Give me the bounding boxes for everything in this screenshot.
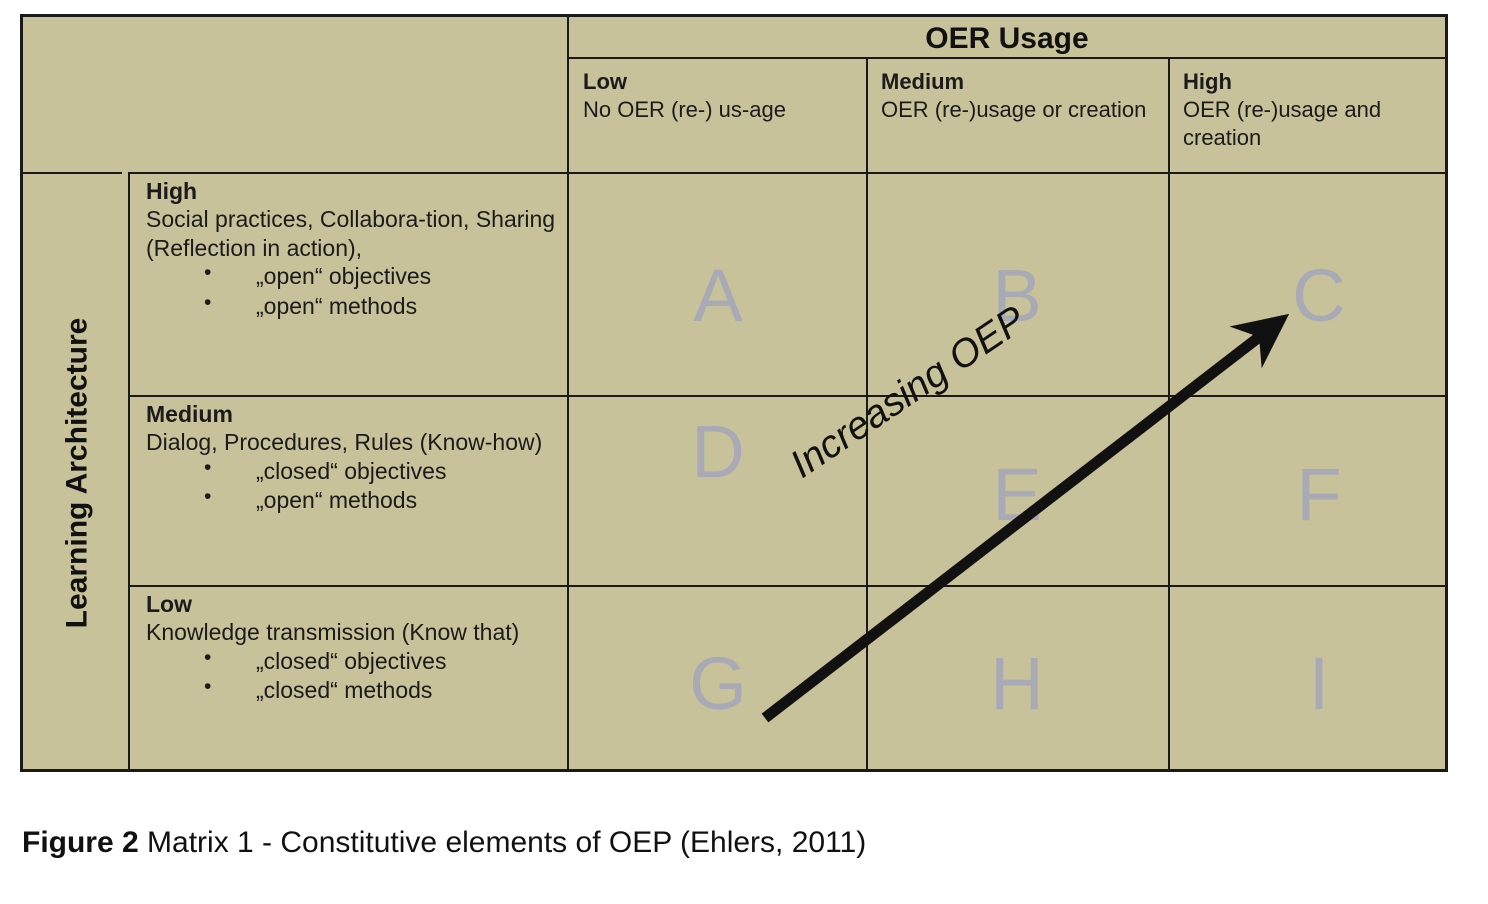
list-item: „closed“ objectives	[146, 647, 563, 676]
list-item: „open“ objectives	[146, 262, 563, 291]
column-header-high: High OER (re-)usage and creation	[1171, 65, 1449, 165]
row-header-medium-label: Medium	[146, 400, 563, 428]
row-header-low-bullets: „closed“ objectives „closed“ methods	[146, 647, 563, 706]
row-axis-title-cell: Learning Architecture	[25, 174, 130, 771]
row-divider-medium-low	[128, 585, 1447, 587]
column-header-low-description: No OER (re-) us-age	[583, 96, 857, 124]
column-header-medium-description: OER (re-)usage or creation	[881, 96, 1159, 124]
column-header-high-description: OER (re-)usage and creation	[1183, 96, 1439, 152]
matrix-cell-h: H	[967, 647, 1067, 721]
column-header-high-label: High	[1183, 68, 1439, 96]
row-header-high: High Social practices, Collabora-tion, S…	[132, 175, 569, 321]
figure-caption: Figure 2 Matrix 1 - Constitutive element…	[22, 826, 866, 860]
row-header-high-bullets: „open“ objectives „open“ methods	[146, 262, 563, 321]
matrix-cell-d: D	[668, 415, 768, 489]
list-item: „open“ methods	[146, 486, 563, 515]
figure-caption-number: Figure 2	[22, 826, 139, 859]
row-header-high-label: High	[146, 177, 563, 205]
matrix-cell-f: F	[1269, 458, 1369, 532]
matrix-cell-g: G	[668, 647, 768, 721]
matrix-cell-c: C	[1269, 259, 1369, 333]
list-item: „open“ methods	[146, 292, 563, 321]
oep-matrix-table: OER Usage Low No OER (re-) us-age Medium…	[20, 14, 1448, 772]
row-header-high-description: Social practices, Collabora-tion, Sharin…	[146, 205, 563, 262]
matrix-cell-e: E	[967, 458, 1067, 532]
column-axis-title: OER Usage	[569, 19, 1445, 59]
matrix-cell-a: A	[668, 259, 768, 333]
row-axis-title: Learning Architecture	[61, 317, 95, 628]
figure-caption-text: Matrix 1 - Constitutive elements of OEP …	[139, 826, 867, 859]
list-item: „closed“ methods	[146, 676, 563, 705]
column-header-medium-label: Medium	[881, 68, 1159, 96]
row-header-medium: Medium Dialog, Procedures, Rules (Know-h…	[132, 398, 569, 516]
column-header-low: Low No OER (re-) us-age	[571, 65, 867, 165]
row-divider-high-medium	[128, 395, 1447, 397]
row-header-low: Low Knowledge transmission (Know that) „…	[132, 588, 569, 706]
column-header-low-label: Low	[583, 68, 857, 96]
row-header-low-description: Knowledge transmission (Know that)	[146, 618, 563, 646]
figure-container: OER Usage Low No OER (re-) us-age Medium…	[0, 0, 1488, 904]
column-head-bottom-divider	[128, 172, 1447, 174]
row-header-medium-description: Dialog, Procedures, Rules (Know-how)	[146, 428, 563, 456]
list-item: „closed“ objectives	[146, 457, 563, 486]
matrix-cell-i: I	[1269, 647, 1369, 721]
column-header-medium: Medium OER (re-)usage or creation	[869, 65, 1169, 165]
row-header-low-label: Low	[146, 590, 563, 618]
row-header-medium-bullets: „closed“ objectives „open“ methods	[146, 457, 563, 516]
